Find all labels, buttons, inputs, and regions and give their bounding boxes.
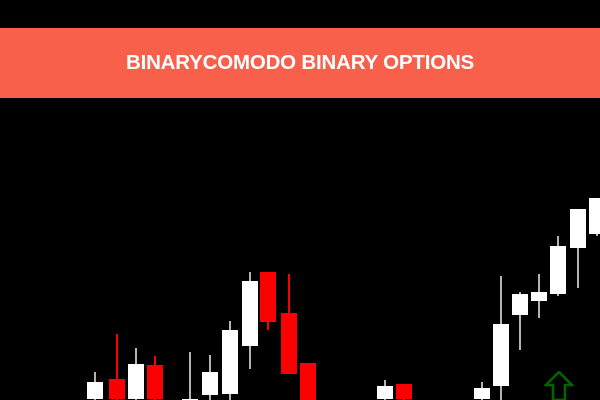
- call-up-arrow-icon: [544, 371, 574, 400]
- candlestick: [589, 198, 600, 236]
- site-banner: BINARYCOMODO BINARY OPTIONS: [0, 28, 600, 98]
- candle-body: [550, 246, 566, 294]
- candle-body: [377, 386, 393, 399]
- candle-body: [87, 382, 103, 399]
- candlestick: [222, 321, 238, 400]
- candle-body: [493, 324, 509, 386]
- candle-body: [396, 384, 412, 399]
- candle-body: [202, 372, 218, 395]
- binary-options-screenshot: BINARYCOMODO BINARY OPTIONS: [0, 0, 600, 400]
- candle-body: [128, 364, 144, 399]
- chart-background: [0, 98, 600, 400]
- candle-body: [222, 330, 238, 394]
- candle-body: [242, 281, 258, 346]
- candle-body: [589, 198, 600, 234]
- candle-body: [531, 292, 547, 301]
- banner-title: BINARYCOMODO BINARY OPTIONS: [126, 53, 474, 74]
- candle-body: [300, 363, 316, 400]
- candlestick-chart-canvas[interactable]: [0, 98, 600, 400]
- candlestick: [300, 363, 316, 400]
- candle-body: [109, 379, 125, 399]
- candle-body: [281, 313, 297, 374]
- up-arrow-outline: [546, 372, 572, 400]
- candlestick: [396, 384, 412, 400]
- candlestick-chart[interactable]: [0, 98, 600, 400]
- up-arrow-glyph: [544, 371, 574, 400]
- candle-body: [512, 294, 528, 315]
- candle-body: [147, 365, 163, 399]
- candle-body: [474, 388, 490, 399]
- candle-body: [260, 272, 276, 322]
- candle-body: [570, 209, 586, 248]
- candlestick: [260, 272, 276, 330]
